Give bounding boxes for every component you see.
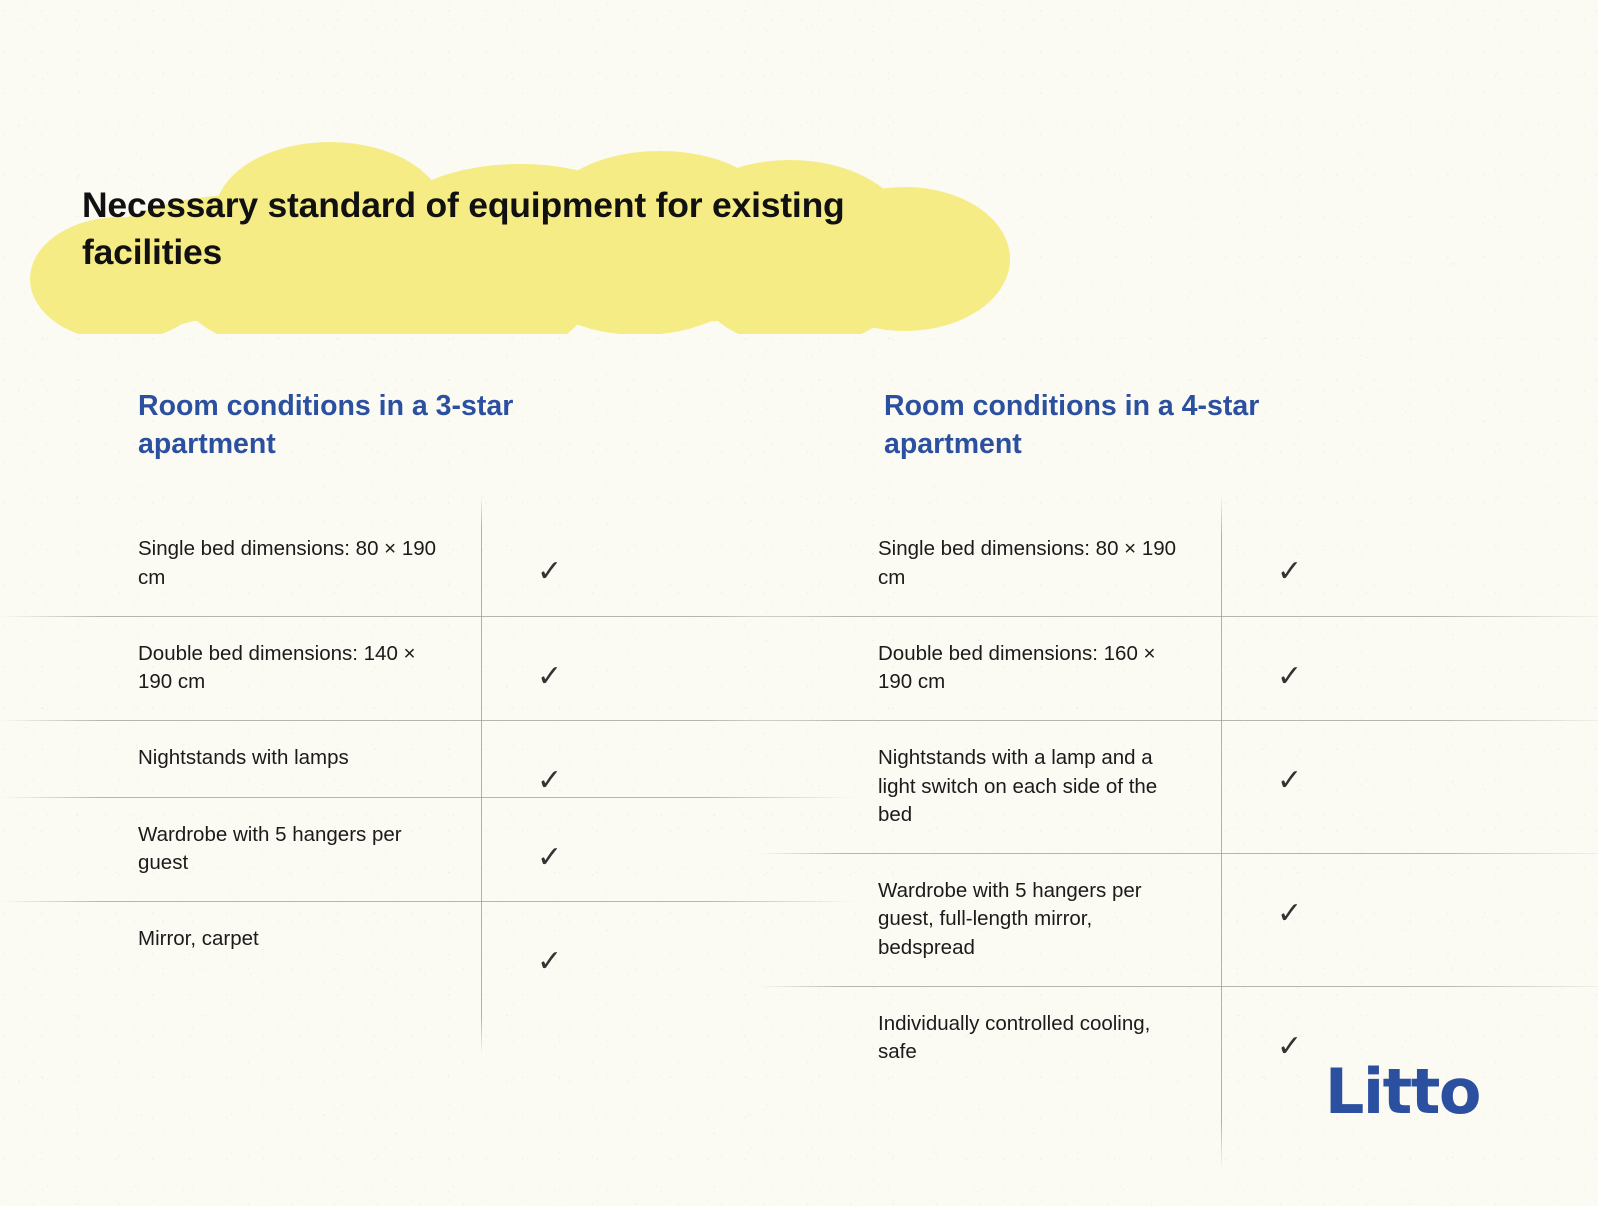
- check-icon: ✓: [537, 843, 562, 873]
- comparison-table-three-star: Room conditions in a 3-star apartment Si…: [88, 388, 788, 977]
- row-check-cell: ✓: [1221, 616, 1528, 692]
- column-title-three-star: Room conditions in a 3-star apartment: [138, 388, 558, 463]
- row-check-cell: ✓: [1221, 986, 1528, 1062]
- row-check-cell: ✓: [481, 797, 788, 873]
- row-label: Nightstands with a lamp and a light swit…: [828, 720, 1221, 853]
- check-icon: ✓: [1277, 557, 1302, 587]
- table-row: Nightstands with a lamp and a light swit…: [828, 720, 1528, 853]
- row-label: Wardrobe with 5 hangers per guest, full-…: [828, 853, 1221, 986]
- row-label: Nightstands with lamps: [88, 720, 481, 796]
- table-row: Single bed dimensions: 80 × 190 cm ✓: [88, 511, 788, 616]
- table-row: Double bed dimensions: 160 × 190 cm ✓: [828, 616, 1528, 721]
- check-icon: ✓: [1277, 662, 1302, 692]
- row-label: Double bed dimensions: 140 × 190 cm: [88, 616, 481, 721]
- table-row: Double bed dimensions: 140 × 190 cm ✓: [88, 616, 788, 721]
- row-check-cell: ✓: [1221, 720, 1528, 796]
- table-row: Mirror, carpet ✓: [88, 901, 788, 977]
- table-row: Single bed dimensions: 80 × 190 cm ✓: [828, 511, 1528, 616]
- table-body-four-star: Single bed dimensions: 80 × 190 cm ✓ Dou…: [828, 511, 1528, 1090]
- check-icon: ✓: [1277, 766, 1302, 796]
- row-check-cell: ✓: [481, 901, 788, 977]
- check-icon: ✓: [537, 766, 562, 796]
- row-label: Double bed dimensions: 160 × 190 cm: [828, 616, 1221, 721]
- row-check-cell: ✓: [481, 511, 788, 587]
- check-icon: ✓: [537, 947, 562, 977]
- row-label: Single bed dimensions: 80 × 190 cm: [828, 511, 1221, 616]
- table-row: Wardrobe with 5 hangers per guest ✓: [88, 797, 788, 902]
- column-title-four-star: Room conditions in a 4-star apartment: [884, 388, 1304, 463]
- row-label: Single bed dimensions: 80 × 190 cm: [88, 511, 481, 616]
- row-check-cell: ✓: [481, 720, 788, 796]
- check-icon: ✓: [537, 557, 562, 587]
- row-check-cell: ✓: [1221, 853, 1528, 929]
- row-check-cell: ✓: [481, 616, 788, 692]
- title-block: Necessary standard of equipment for exis…: [0, 104, 1010, 334]
- comparison-table-four-star: Room conditions in a 4-star apartment Si…: [828, 388, 1528, 1091]
- brand-logo: Litto: [1325, 1055, 1480, 1128]
- slide-canvas: Necessary standard of equipment for exis…: [0, 0, 1598, 1206]
- page-title: Necessary standard of equipment for exis…: [82, 182, 972, 276]
- check-icon: ✓: [537, 662, 562, 692]
- row-label: Mirror, carpet: [88, 901, 481, 977]
- table-row: Wardrobe with 5 hangers per guest, full-…: [828, 853, 1528, 986]
- check-icon: ✓: [1277, 1032, 1302, 1062]
- row-label: Wardrobe with 5 hangers per guest: [88, 797, 481, 902]
- row-label: Individually controlled cooling, safe: [828, 986, 1221, 1091]
- table-row: Nightstands with lamps ✓: [88, 720, 788, 796]
- row-check-cell: ✓: [1221, 511, 1528, 587]
- check-icon: ✓: [1277, 899, 1302, 929]
- table-body-three-star: Single bed dimensions: 80 × 190 cm ✓ Dou…: [88, 511, 788, 977]
